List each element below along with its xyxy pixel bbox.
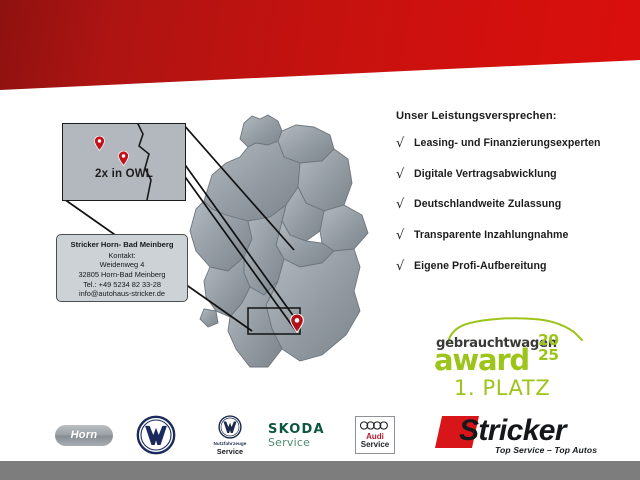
map-pin-icon xyxy=(118,151,129,166)
contact-line: Kontakt: xyxy=(61,251,183,261)
promise-item: √ Eigene Profi-Aufbereitung xyxy=(396,259,632,276)
check-icon: √ xyxy=(396,197,414,214)
vw-nutzfahrzeuge-service-logo: Nutzfahrzeuge Service xyxy=(196,408,264,462)
audi-rings-icon xyxy=(359,421,391,430)
check-icon: √ xyxy=(396,167,414,184)
volkswagen-logo xyxy=(128,408,184,462)
stricker-logo-mark: Stricker Top Service – Top Autos xyxy=(435,412,613,458)
vw-roundel-icon xyxy=(218,415,242,439)
promise-item: √ Deutschlandweite Zulassung xyxy=(396,197,632,214)
promise-list: Unser Leistungsversprechen: √ Leasing- u… xyxy=(396,110,632,289)
promise-item: √ Leasing- und Finanzierungsexperten xyxy=(396,136,632,153)
promise-label: Digitale Vertragsabwicklung xyxy=(414,167,557,181)
map-inset-box: 2x in OWL xyxy=(62,123,186,201)
contact-line: 32805 Horn-Bad Meinberg xyxy=(61,270,183,280)
promise-heading: Unser Leistungsversprechen: xyxy=(396,110,632,122)
stricker-logo: Stricker Top Service – Top Autos xyxy=(424,408,624,462)
award-badge: gebrauchtwagen award 20 25 1. PLATZ xyxy=(424,316,604,402)
award-rank: 1. PLATZ xyxy=(454,376,550,400)
stricker-tagline: Top Service – Top Autos xyxy=(495,445,597,455)
contact-line: Weidenweg 4 xyxy=(61,260,183,270)
horn-label: Horn xyxy=(55,425,113,446)
promise-label: Eigene Profi-Aufbereitung xyxy=(414,259,547,273)
vw-nutzfahrzeuge-label: Nutzfahrzeuge xyxy=(214,441,247,446)
audi-box: Audi Service xyxy=(355,416,395,454)
promise-label: Transparente Inzahlungnahme xyxy=(414,228,568,242)
contact-name: Stricker Horn- Bad Meinberg xyxy=(61,240,183,250)
horn-logo: Horn xyxy=(52,408,116,462)
contact-info-box: Stricker Horn- Bad Meinberg Kontakt: Wei… xyxy=(56,234,188,302)
vw-roundel-icon xyxy=(136,415,176,455)
map-pin-icon xyxy=(94,136,105,151)
check-icon: √ xyxy=(396,259,414,276)
map-pin-icon xyxy=(290,314,304,333)
promise-label: Deutschlandweite Zulassung xyxy=(414,197,561,211)
check-icon: √ xyxy=(396,136,414,153)
promise-label: Leasing- und Finanzierungsexperten xyxy=(414,136,601,150)
footer-bar xyxy=(0,461,640,480)
stricker-wordmark: Stricker xyxy=(459,414,566,447)
brand-logo-row: Horn Nutzfahrzeuge Service SKODA Service xyxy=(0,408,640,462)
audi-service-logo: Audi Service xyxy=(348,408,402,462)
germany-map xyxy=(182,105,382,403)
audi-service-label: Service xyxy=(361,441,389,449)
award-year-bottom: 25 xyxy=(538,348,559,363)
award-name: award xyxy=(434,346,529,375)
promise-item: √ Transparente Inzahlungnahme xyxy=(396,228,632,245)
vw-service-label: Service xyxy=(217,447,243,456)
promise-item: √ Digitale Vertragsabwicklung xyxy=(396,167,632,184)
header-banner xyxy=(0,0,640,92)
inset-label: 2x in OWL xyxy=(63,168,185,180)
map-section: 2x in OWL Stricker Horn- Bad Meinberg Ko… xyxy=(52,100,382,405)
inset-region-border xyxy=(135,124,185,200)
contact-email: info@autohaus-stricker.de xyxy=(61,289,183,299)
skoda-service-label: Service xyxy=(268,436,310,449)
skoda-service-logo: SKODA Service xyxy=(268,408,344,462)
check-icon: √ xyxy=(396,228,414,245)
slide-canvas: Leistungsversprechen - Gebrauchtwagen St… xyxy=(0,0,640,480)
award-year: 20 25 xyxy=(538,333,559,362)
skoda-label: SKODA xyxy=(268,422,325,437)
contact-phone: Tel.: +49 5234 82 33-28 xyxy=(61,280,183,290)
